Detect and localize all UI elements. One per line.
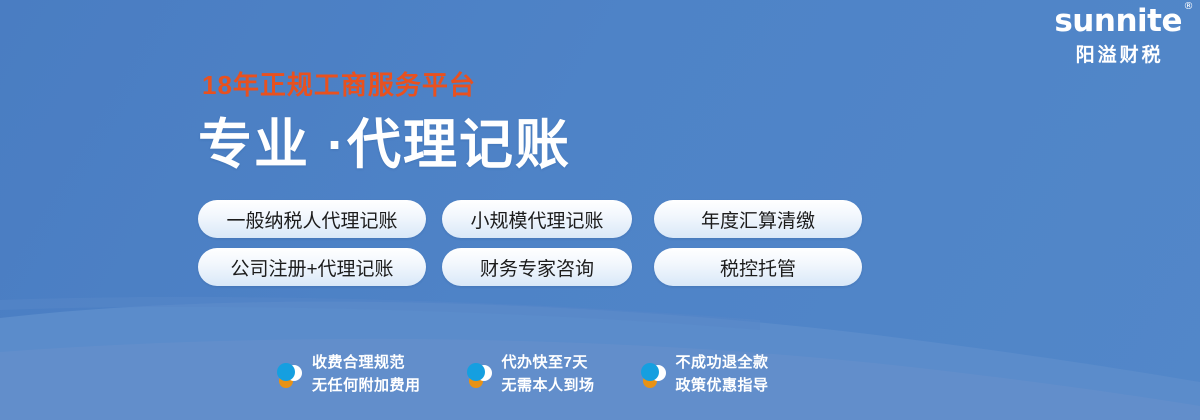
service-pill[interactable]: 一般纳税人代理记账 — [198, 200, 426, 238]
feature-item: 不成功退全款 政策优惠指导 — [639, 352, 769, 397]
feature-strip: 收费合理规范 无任何附加费用 代办快至7天 无需本人到场 — [275, 352, 769, 397]
feature-line-1: 代办快至7天 — [502, 354, 588, 371]
service-pill[interactable]: 税控托管 — [654, 248, 862, 286]
registered-mark-icon: ® — [1184, 2, 1194, 12]
wave-shape-accent — [0, 297, 760, 330]
service-pill-group: 一般纳税人代理记账 小规模代理记账 年度汇算清缴 公司注册+代理记账 财务专家咨… — [198, 200, 862, 286]
feature-item: 收费合理规范 无任何附加费用 — [275, 352, 421, 397]
service-pill[interactable]: 年度汇算清缴 — [654, 200, 862, 238]
feature-item: 代办快至7天 无需本人到场 — [465, 352, 595, 397]
feature-line-1: 收费合理规范 — [312, 354, 405, 371]
headline-block: 18年正规工商服务平台 专业 ·代理记账 — [198, 72, 571, 172]
feature-line-2: 无任何附加费用 — [312, 377, 421, 394]
service-pill-row: 公司注册+代理记账 财务专家咨询 税控托管 — [198, 248, 862, 286]
feature-text: 代办快至7天 无需本人到场 — [502, 352, 595, 397]
feature-text: 不成功退全款 政策优惠指导 — [676, 352, 769, 397]
brand-wordmark-text: sunnite — [1054, 3, 1182, 39]
feature-text: 收费合理规范 无任何附加费用 — [312, 352, 421, 397]
service-pill-row: 一般纳税人代理记账 小规模代理记账 年度汇算清缴 — [198, 200, 862, 238]
circle-badge-svg — [639, 360, 667, 390]
service-pill[interactable]: 公司注册+代理记账 — [198, 248, 426, 286]
service-pill[interactable]: 小规模代理记账 — [442, 200, 632, 238]
page-title: 专业 ·代理记账 — [198, 118, 571, 172]
circle-badge-icon — [639, 360, 667, 390]
brand-chinese-name: 阳溢财税 — [1054, 46, 1182, 65]
brand-logo[interactable]: sunnite ® 阳溢财税 — [1054, 6, 1182, 65]
circle-badge-icon — [465, 360, 493, 390]
circle-badge-icon — [275, 360, 303, 390]
feature-line-1: 不成功退全款 — [676, 354, 769, 371]
circle-badge-svg — [275, 360, 303, 390]
headline-kicker: 18年正规工商服务平台 — [202, 72, 571, 98]
service-pill[interactable]: 财务专家咨询 — [442, 248, 632, 286]
brand-wordmark: sunnite ® — [1054, 6, 1182, 37]
feature-line-2: 政策优惠指导 — [676, 377, 769, 394]
promo-banner: sunnite ® 阳溢财税 18年正规工商服务平台 专业 ·代理记账 一般纳税… — [0, 0, 1200, 420]
circle-badge-svg — [465, 360, 493, 390]
feature-line-2: 无需本人到场 — [502, 377, 595, 394]
